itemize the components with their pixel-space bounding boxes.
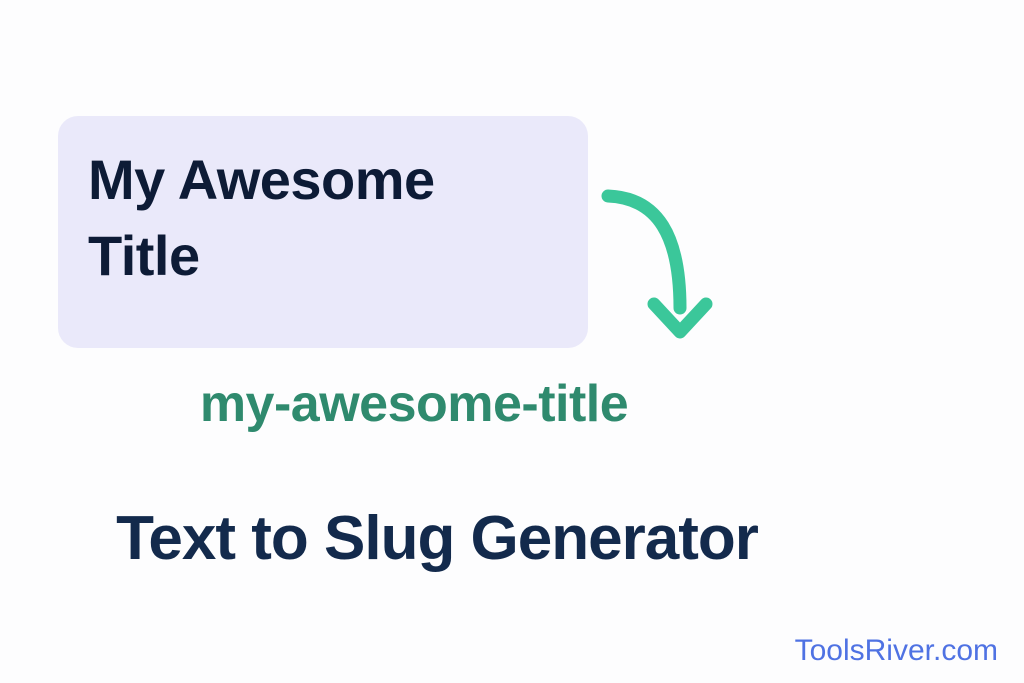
sample-title-card[interactable]: My Awesome Title	[58, 116, 588, 348]
generated-slug: my-awesome-title	[0, 376, 1024, 433]
sample-title-text: My Awesome Title	[88, 142, 560, 294]
curved-down-arrow-icon	[596, 182, 726, 348]
slug-generator-illustration: My Awesome Title my-awesome-title Text t…	[0, 0, 1024, 683]
page-title: Text to Slug Generator	[0, 505, 1024, 573]
site-watermark: ToolsRiver.com	[795, 633, 998, 669]
curved-down-arrow	[596, 182, 726, 348]
